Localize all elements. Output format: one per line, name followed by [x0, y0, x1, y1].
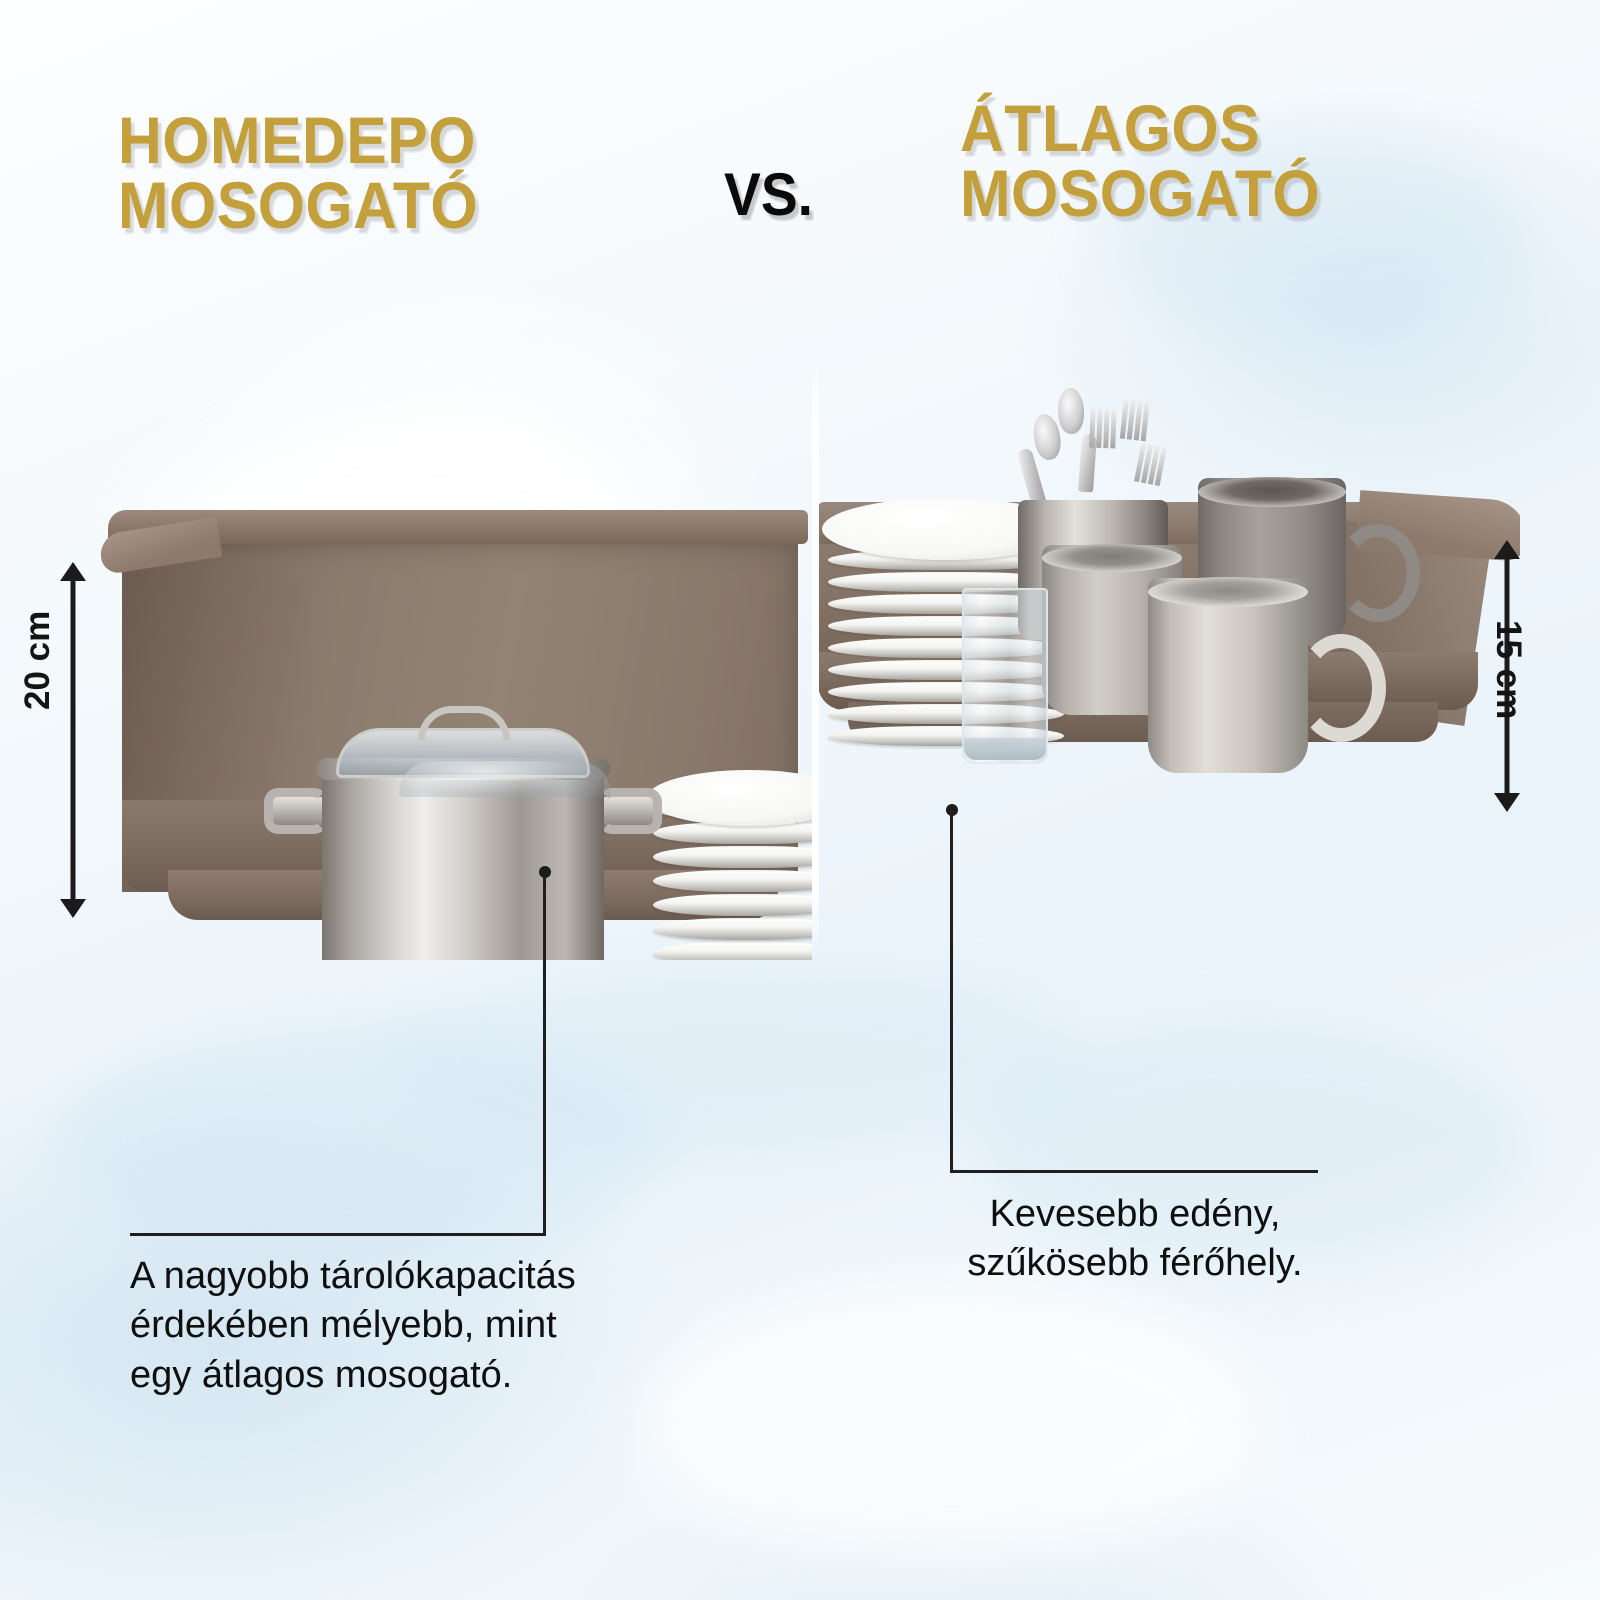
photo-half-right: [818, 350, 1520, 960]
fork-icon: [1089, 404, 1117, 449]
drinking-glass-base: [964, 738, 1046, 760]
page-title-left: HOMEDEPO MOSOGATÓ: [118, 108, 633, 237]
pot-lid-glass-panel: [399, 761, 611, 797]
mug-rim: [1042, 544, 1182, 572]
plate: [653, 894, 812, 916]
spoon-icon: [1057, 388, 1085, 435]
leader-line-left-vertical: [543, 872, 546, 1236]
caption-right: Kevesebb edény, szűkösebb férőhely.: [900, 1190, 1370, 1289]
poster-canvas: HOMEDEPO MOSOGATÓ VS. ÁTLAGOS MOSOGATÓ: [0, 0, 1600, 1600]
plate: [653, 942, 812, 960]
mug-handle: [1296, 634, 1386, 742]
leader-line-right-vertical: [950, 810, 953, 1172]
mug-rim: [1198, 477, 1346, 507]
mug-handle: [1336, 524, 1420, 622]
pot-handle-left: [264, 788, 328, 834]
plate: [653, 870, 812, 892]
fork-icon: [1134, 438, 1168, 486]
arrow-head-down-icon: [1494, 793, 1520, 812]
marble-vein: [640, 1280, 1260, 1560]
dimension-label-left: 20 cm: [18, 611, 58, 710]
comparison-photo: [100, 350, 1520, 960]
plate-top: [647, 770, 812, 826]
page-title-right: ÁTLAGOS MOSOGATÓ: [960, 96, 1475, 225]
plate: [653, 918, 812, 940]
leader-line-left-horizontal: [130, 1233, 546, 1236]
plate-stack-left: [653, 770, 812, 960]
stockpot: [298, 710, 628, 960]
marble-vein: [380, 960, 1080, 1160]
split-divider: [812, 350, 819, 960]
dimension-arrow-left: [60, 562, 86, 918]
mug-body: [1148, 578, 1308, 773]
photo-half-left: [100, 350, 812, 960]
caption-left: A nagyobb tárolókapacitás érdekében mély…: [130, 1252, 690, 1400]
dimension-label-right: 15 cm: [1488, 620, 1528, 719]
plate: [653, 846, 812, 868]
mug-beige: [1148, 578, 1308, 773]
mug-rim: [1148, 577, 1308, 607]
pot-lid-handle: [418, 706, 510, 740]
fork-icon: [1120, 395, 1150, 441]
arrow-shaft: [71, 574, 76, 906]
arrow-head-down-icon: [60, 899, 86, 918]
vs-label: VS.: [724, 160, 813, 229]
leader-line-right-horizontal: [950, 1170, 1318, 1173]
deep-sink-image: [108, 510, 808, 920]
